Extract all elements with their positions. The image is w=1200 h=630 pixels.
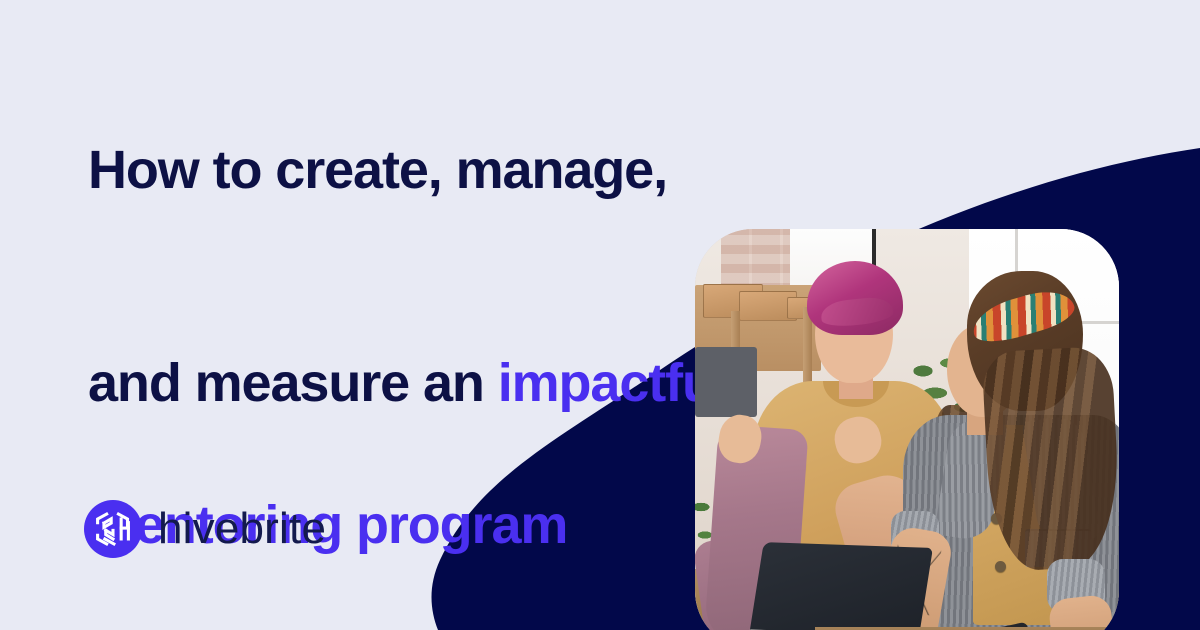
hero-photo: [695, 229, 1119, 630]
hivebrite-wordmark: hivebrite: [158, 504, 326, 554]
laptop-screen: [747, 542, 933, 630]
social-share-card: How to create, manage, and measure an im…: [0, 0, 1200, 630]
headline-accent-impactful: impactful: [498, 353, 728, 413]
hivebrite-logo[interactable]: hivebrite: [84, 500, 326, 558]
woman-b-button-lower: [995, 561, 1006, 572]
dark-equipment: [695, 347, 757, 417]
headline-line-2-plain: and measure an: [88, 353, 498, 413]
headline-line-1: How to create, manage,: [88, 135, 868, 206]
hivebrite-hex-logo-icon: [84, 500, 142, 558]
photo-scene: [695, 229, 1119, 630]
